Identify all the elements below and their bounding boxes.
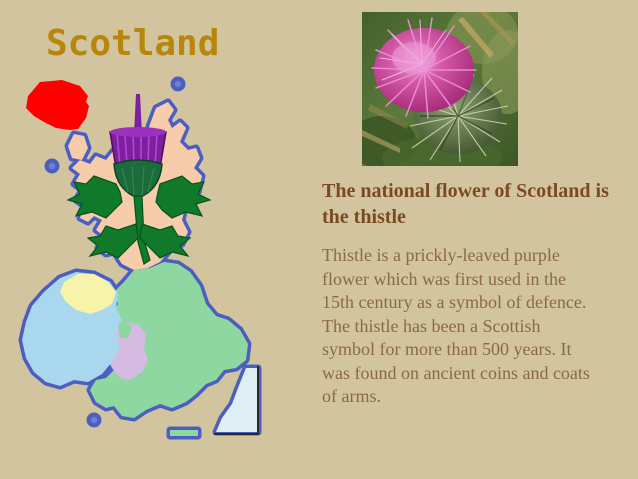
thistle-photo-graphic [362,12,518,166]
map-island-dot [175,81,181,87]
british-isles-map-graphic [10,72,310,472]
map-island-dot [91,417,97,423]
body-paragraph: Thistle is a prickly-leaved purple flowe… [322,244,592,409]
map-region-channel-strip [170,430,198,436]
text-column: The national flower of Scotland is the t… [322,178,622,409]
body-heading: The national flower of Scotland is the t… [322,178,622,230]
red-polygon-marker [26,80,89,130]
slide-canvas: Scotland [0,0,638,479]
page-title: Scotland [46,22,219,66]
british-isles-map [10,72,310,472]
map-island-dot [49,163,55,169]
thistle-photo [362,12,518,166]
